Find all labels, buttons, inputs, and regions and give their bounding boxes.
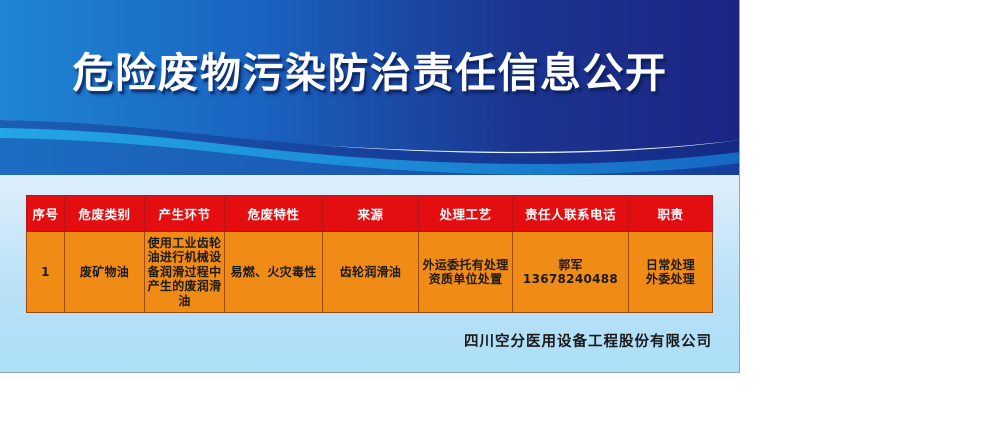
cell-duty: 日常处理 外委处理 (629, 232, 713, 313)
cell-index: 1 (27, 232, 65, 313)
banner-wave-graphic (0, 0, 740, 175)
cell-responsible-contact: 郭军 13678240488 (513, 232, 629, 313)
cell-treatment: 外运委托有处理资质单位处置 (419, 232, 513, 313)
hazardous-waste-table: 序号 危废类别 产生环节 危废特性 来源 处理工艺 责任人联系电话 职责 1 废… (26, 195, 713, 313)
cell-generation-stage: 使用工业齿轮油进行机械设备润滑过程中产生的废润滑油 (145, 232, 225, 313)
cell-characteristics: 易燃、火灾毒性 (225, 232, 323, 313)
column-header-contact: 责任人联系电话 (513, 196, 629, 232)
column-header-index: 序号 (27, 196, 65, 232)
poster-panel: 危险废物污染防治责任信息公开 序号 危废类别 产生环节 危废特性 来源 处理工艺… (0, 0, 740, 373)
column-header-characteristics: 危废特性 (225, 196, 323, 232)
company-name: 四川空分医用设备工程股份有限公司 (0, 330, 712, 351)
cell-category: 废矿物油 (65, 232, 145, 313)
column-header-source: 来源 (323, 196, 419, 232)
column-header-treatment: 处理工艺 (419, 196, 513, 232)
header-banner: 危险废物污染防治责任信息公开 (0, 0, 740, 175)
column-header-duty: 职责 (629, 196, 713, 232)
column-header-stage: 产生环节 (145, 196, 225, 232)
cell-source: 齿轮润滑油 (323, 232, 419, 313)
table-header-row: 序号 危废类别 产生环节 危废特性 来源 处理工艺 责任人联系电话 职责 (27, 196, 713, 232)
table-row: 1 废矿物油 使用工业齿轮油进行机械设备润滑过程中产生的废润滑油 易燃、火灾毒性… (27, 232, 713, 313)
column-header-category: 危废类别 (65, 196, 145, 232)
